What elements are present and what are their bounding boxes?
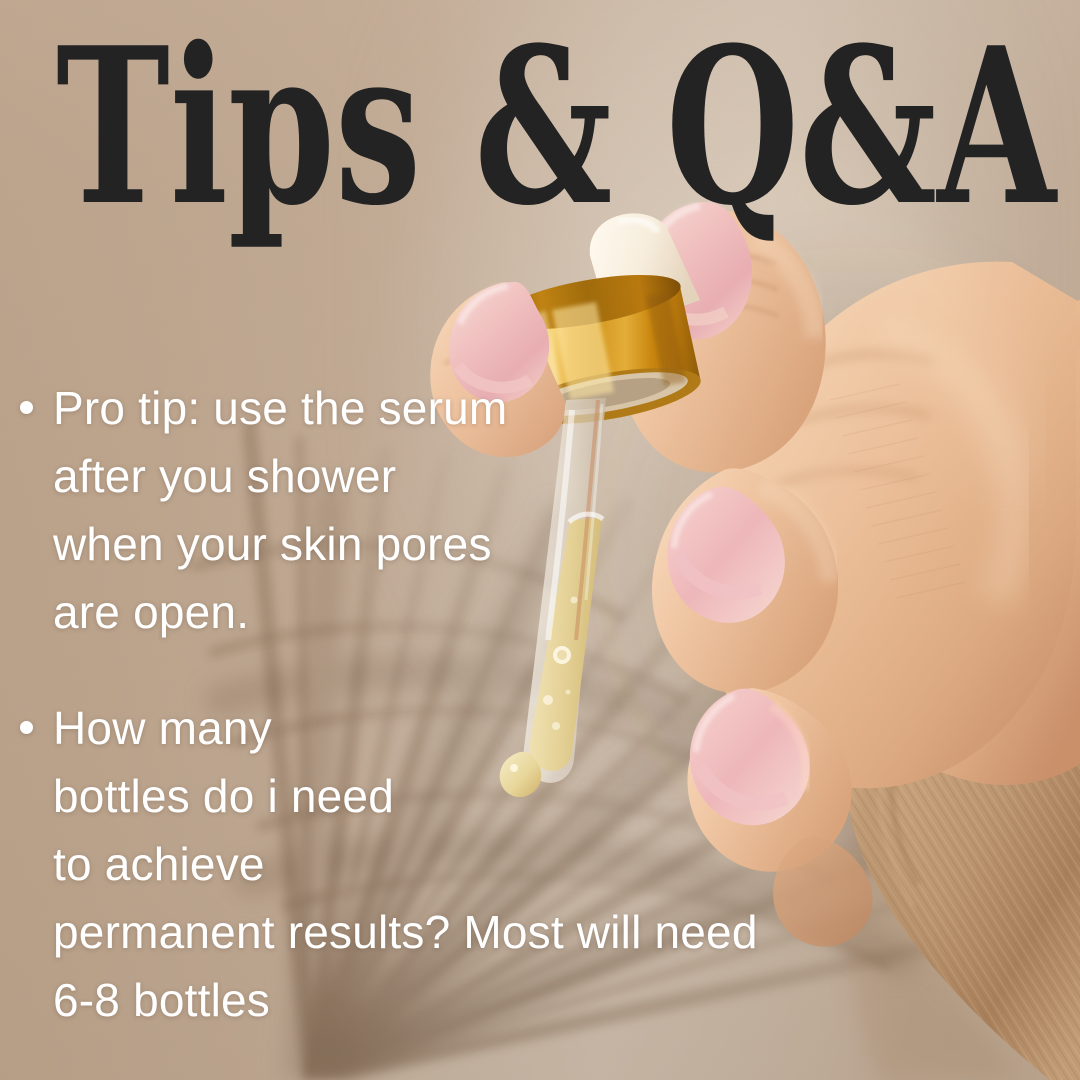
bullet-dot-icon [20, 401, 33, 414]
list-item: How many bottles do i need to achieve pe… [0, 694, 920, 1034]
bullet-list: Pro tip: use the serum after you shower … [0, 0, 1080, 1080]
poster-canvas: Tips & Q&A Pro tip: use the serum after … [0, 0, 1080, 1080]
list-item-text: How many bottles do i need to achieve pe… [53, 694, 758, 1034]
list-item-text: Pro tip: use the serum after you shower … [53, 374, 507, 646]
list-item: Pro tip: use the serum after you shower … [0, 374, 620, 646]
bullet-dot-icon [20, 721, 33, 734]
